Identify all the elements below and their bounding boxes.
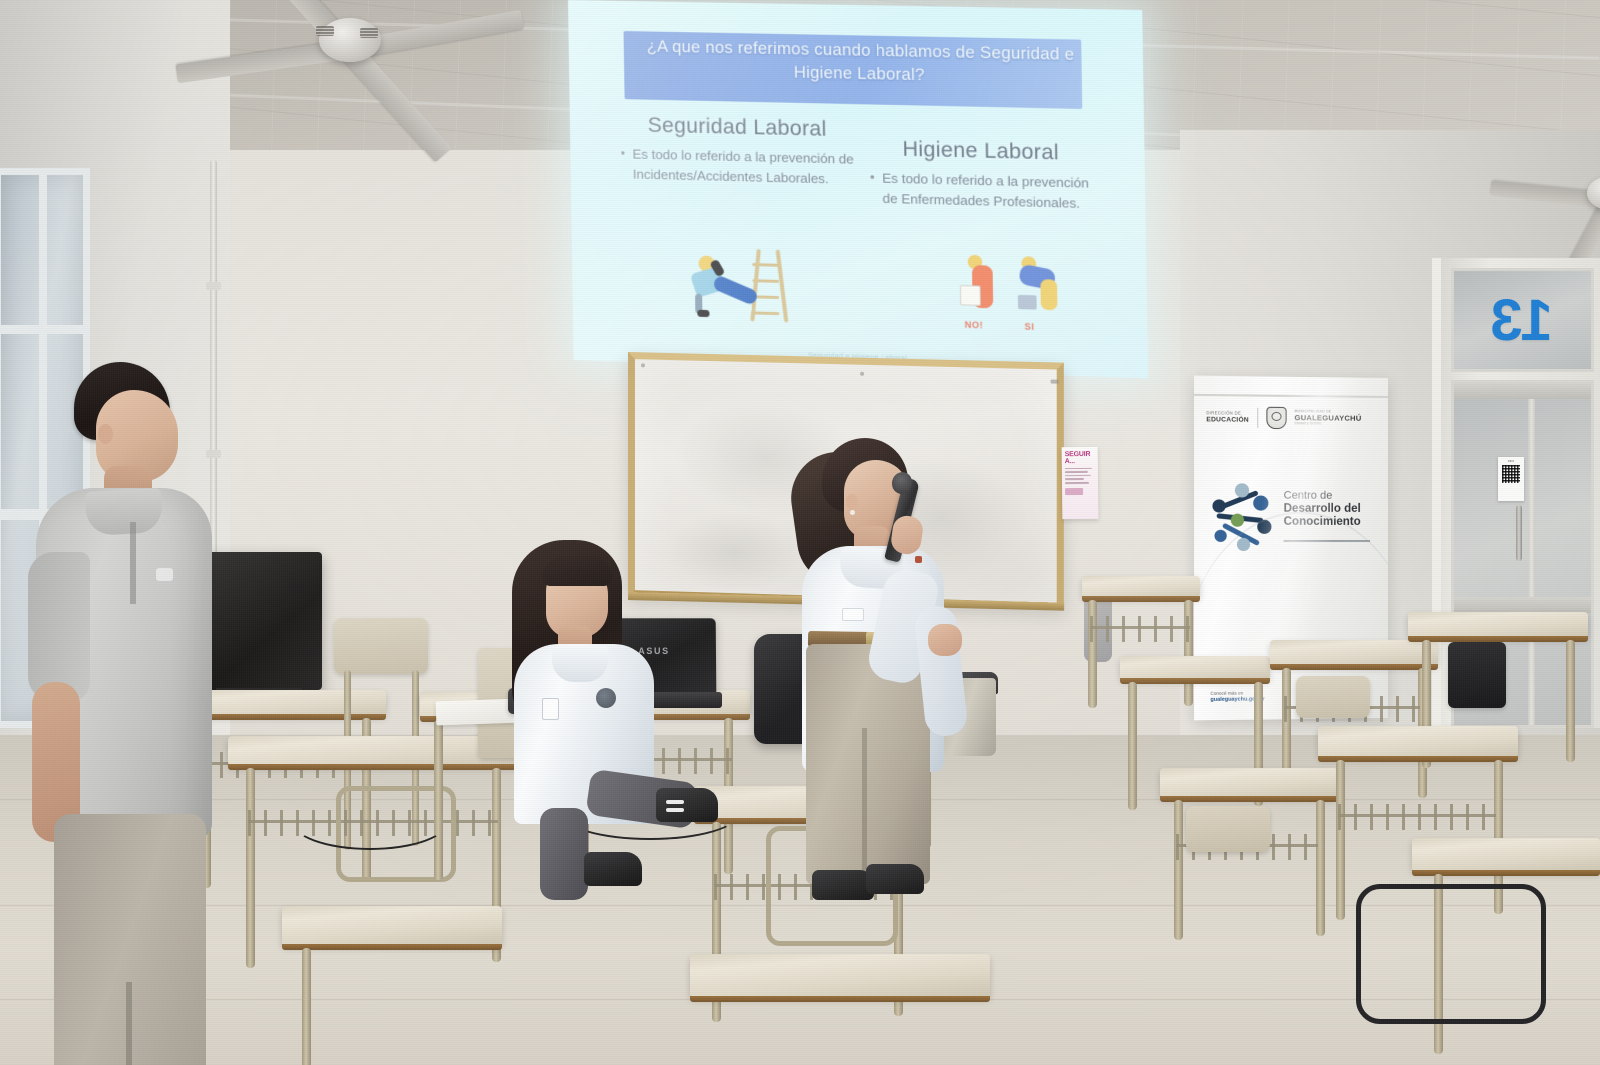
ceiling-fan [180,0,520,100]
door-rail [1454,597,1591,613]
ceiling-fan [1500,148,1600,238]
poster-headline: SEGUIR A... [1065,451,1095,466]
pants-seam [126,982,132,1065]
classroom-scene: ¿A que nos referimos cuando hablamos de … [0,0,1600,1065]
door-number: 13 [1454,287,1591,354]
person-woman-presenter [782,438,962,938]
wall-poster: SEGUIR A... [1062,447,1099,519]
hand [928,624,962,656]
school-crest [596,688,616,708]
person-man-standing [18,362,218,1065]
shoe [866,864,924,894]
banner-title-line1: Centro de [1284,490,1361,503]
fan-vent [360,28,378,38]
ear [846,494,858,510]
fan-vent [316,26,334,36]
logo-divider [1257,408,1258,428]
slide-column-heading: Higiene Laboral [869,137,1092,167]
sleeve [28,552,90,702]
city-crest-icon [1266,407,1286,429]
banner-topline [1194,394,1388,398]
whiteboard-magnet [641,363,645,367]
cable [290,790,450,850]
name-tag [542,698,559,720]
correct-lift-icon [1017,256,1066,321]
name-badge [842,608,864,621]
label-si: SI [1024,321,1034,331]
incorrect-lift-icon [959,255,1005,319]
ear [98,424,113,444]
banner-dept-big: EDUCACIÓN [1206,416,1249,424]
fan-blade [1490,180,1600,207]
pants-seam [862,728,867,878]
banner-logos: DIRECCIÓN DE EDUCACIÓN MUNICIPALIDAD DE … [1206,406,1378,430]
slide-column-bullet: Es todo lo referido a la prevención de E… [870,168,1094,214]
projection-screen: ¿A que nos referimos cuando hablamos de … [568,0,1148,378]
leg [540,808,588,900]
lifting-technique-illustration: NO! SI [959,248,1074,353]
qr-flyer-title: INFO [1501,460,1521,463]
door-transom: 13 [1451,268,1594,372]
slide-column-bullet: Es todo lo referido a la prevención de I… [620,144,856,189]
slide-column-seguridad: Seguridad Laboral Es todo lo referido a … [620,113,856,190]
label-no: NO! [965,320,984,331]
education-logo: DIRECCIÓN DE EDUCACIÓN [1206,411,1249,423]
shoe [584,852,642,886]
banner-city-sub: Ciudad y Distrito [1294,422,1361,426]
collar [552,646,608,682]
door-mullion [1528,383,1535,725]
microphone-tip [915,556,922,563]
slide-column-heading: Seguridad Laboral [620,113,855,142]
slide-column-higiene: Higiene Laboral Es todo lo referido a la… [869,137,1093,214]
qr-flyer: INFO [1498,457,1524,501]
whiteboard-magnet [1051,379,1059,383]
person-girl-seated [500,540,690,870]
whiteboard-magnet [860,372,864,376]
shoe [656,788,718,822]
shirt-logo [156,568,173,581]
earring [850,510,855,515]
city-logo: MUNICIPALIDAD DE GUALEGUAYCHÚ Ciudad y D… [1294,410,1361,426]
placket [130,522,136,604]
conduit-clip [206,282,221,290]
ladder-fall-illustration [690,233,823,338]
shoe [812,870,874,900]
hair-front [542,556,612,586]
door-handle[interactable] [1516,505,1522,561]
qr-code-icon [1502,465,1520,483]
falling-worker-icon [690,255,762,319]
slide-title: ¿A que nos referimos cuando hablamos de … [631,35,1092,91]
door-rail [1454,383,1591,399]
fan-hub [319,18,381,62]
